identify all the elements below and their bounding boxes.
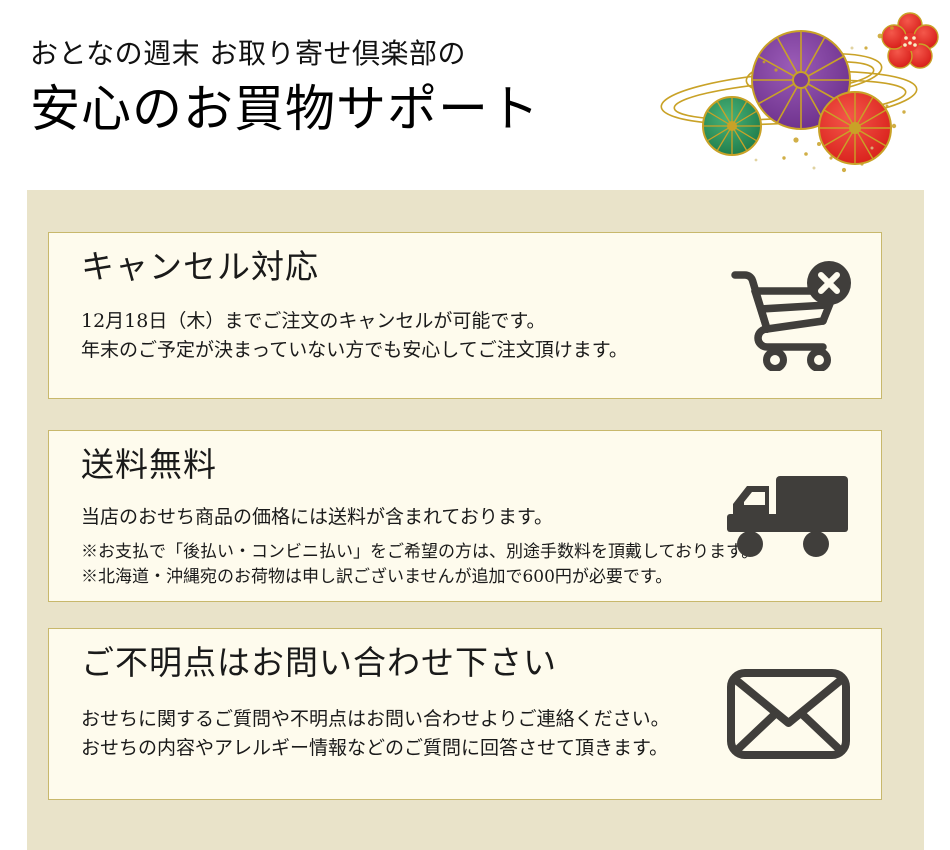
card-body-line: 年末のご予定が決まっていない方でも安心してご注文頂けます。 xyxy=(81,336,628,365)
card-body-line: 12月18日（木）までご注文のキャンセルが可能です。 xyxy=(81,307,628,336)
support-card-cancellation: キャンセル対応 12月18日（木）までご注文のキャンセルが可能です。 年末のご予… xyxy=(48,232,882,399)
delivery-truck-icon xyxy=(721,470,851,562)
japanese-floral-ornament-icon xyxy=(656,8,946,183)
card-body-inquiry: おせちに関するご質問や不明点はお問い合わせよりご連絡ください。 おせちの内容やア… xyxy=(81,705,670,764)
card-note-block: ※お支払で「後払い・コンビニ払い」をご希望の方は、別途手数料を頂戴しております。… xyxy=(81,540,758,589)
support-card-inquiry: ご不明点はお問い合わせ下さい おせちに関するご質問や不明点はお問い合わせよりご連… xyxy=(48,628,882,800)
card-title-free-shipping: 送料無料 xyxy=(81,447,217,483)
card-body-line: おせちに関するご質問や不明点はお問い合わせよりご連絡ください。 xyxy=(81,705,670,734)
header-text-block: おとなの週末 お取り寄せ倶楽部の 安心のお買物サポート xyxy=(30,40,540,134)
card-note-line: ※お支払で「後払い・コンビニ払い」をご希望の方は、別途手数料を頂戴しております。 xyxy=(81,540,758,565)
header-subtitle: おとなの週末 お取り寄せ倶楽部の xyxy=(30,40,540,68)
card-title-inquiry: ご不明点はお問い合わせ下さい xyxy=(81,645,557,681)
card-body-line: おせちの内容やアレルギー情報などのご質問に回答させて頂きます。 xyxy=(81,734,670,763)
cart-cancel-icon xyxy=(731,261,851,371)
support-panel: キャンセル対応 12月18日（木）までご注文のキャンセルが可能です。 年末のご予… xyxy=(27,190,924,850)
card-body-free-shipping: 当店のおせち商品の価格には送料が含まれております。 ※お支払で「後払い・コンビニ… xyxy=(81,503,758,590)
card-body-line: 当店のおせち商品の価格には送料が含まれております。 xyxy=(81,503,758,532)
envelope-mail-icon xyxy=(726,668,851,760)
card-body-cancellation: 12月18日（木）までご注文のキャンセルが可能です。 年末のご予定が決まっていな… xyxy=(81,307,628,366)
card-note-line: ※北海道・沖縄宛のお荷物は申し訳ございませんが追加で600円が必要です。 xyxy=(81,565,758,590)
support-card-free-shipping: 送料無料 当店のおせち商品の価格には送料が含まれております。 ※お支払で「後払い… xyxy=(48,430,882,602)
card-title-cancellation: キャンセル対応 xyxy=(81,249,319,285)
page-title: 安心のお買物サポート xyxy=(30,84,540,134)
page-header: おとなの週末 お取り寄せ倶楽部の 安心のお買物サポート xyxy=(0,0,950,190)
